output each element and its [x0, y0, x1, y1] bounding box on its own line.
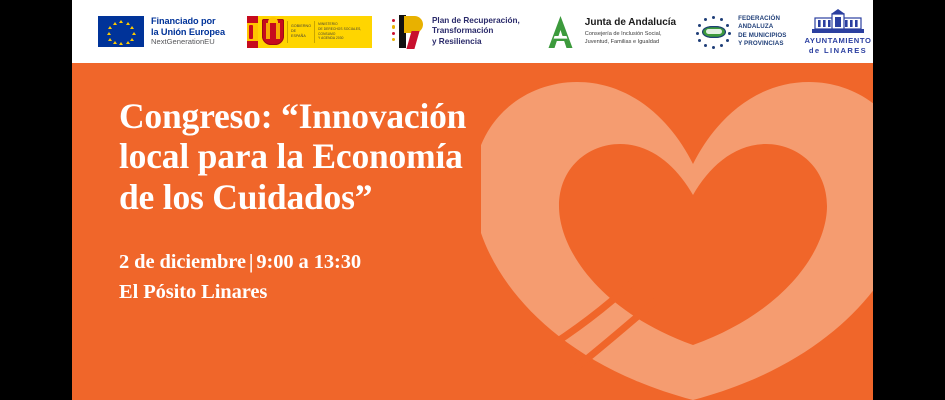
ministerio-label: MINISTERIO DE DERECHOS SOCIALES, CONSUMO…: [315, 22, 372, 41]
famp-label: FEDERACIÓN ANDALUZA DE MUNICIPIOS Y PROV…: [738, 15, 786, 48]
poster-copy-block: Congreso: “Innovación local para la Econ…: [119, 96, 549, 308]
prtr-monogram-icon: [392, 15, 426, 48]
event-time: 9:00 a 13:30: [256, 251, 361, 273]
spain-coat-of-arms-icon: [262, 19, 284, 45]
poster-canvas: Financiado por la Unión Europea NextGene…: [72, 0, 873, 400]
eu-logo-line1: Financiado por: [151, 16, 225, 26]
gobierno-label: GOBIERNO DE ESPAÑA: [288, 24, 314, 40]
detail-separator: |: [246, 251, 256, 273]
logo-divider: [287, 21, 288, 43]
eu-flag-icon: [98, 16, 144, 47]
gobierno-de-espana-logo: GOBIERNO DE ESPAÑA MINISTERIO DE DERECHO…: [247, 16, 372, 48]
linares-line1: AYUNTAMIENTO: [805, 36, 872, 45]
spain-flag-bar-icon: [247, 16, 258, 48]
event-date: 2 de diciembre: [119, 251, 246, 273]
poster-root: Financiado por la Unión Europea NextGene…: [0, 0, 945, 400]
junta-title: Junta de Andalucía: [585, 17, 676, 29]
page-title: Congreso: “Innovación local para la Econ…: [119, 96, 549, 217]
famp-emblem-icon: [696, 15, 732, 49]
prtr-label: Plan de Recuperación, Transformación y R…: [432, 16, 520, 47]
plan-de-recuperacion-logo: Plan de Recuperación, Transformación y R…: [392, 15, 520, 48]
eu-logo-line3: NextGenerationEU: [151, 38, 225, 47]
eu-logo-line2: la Unión Europea: [151, 27, 225, 37]
linares-line2: de LINARES: [809, 46, 867, 55]
junta-andalucia-a-icon: [544, 15, 578, 49]
institutional-logo-strip: Financiado por la Unión Europea NextGene…: [72, 0, 873, 63]
logo-divider: [314, 21, 315, 43]
junta-subtitle: Consejería de Inclusión Social, Juventud…: [585, 31, 676, 46]
european-union-funding-logo: Financiado por la Unión Europea NextGene…: [98, 16, 225, 47]
junta-de-andalucia-logo: Junta de Andalucía Consejería de Inclusi…: [544, 15, 676, 49]
ayuntamiento-de-linares-logo: AYUNTAMIENTO de LINARES: [805, 9, 872, 55]
linares-town-hall-building-icon: [809, 9, 867, 35]
federacion-andaluza-municipios-provincias-logo: FEDERACIÓN ANDALUZA DE MUNICIPIOS Y PROV…: [696, 15, 786, 49]
event-venue: El Pósito Linares: [119, 277, 549, 307]
event-details: 2 de diciembre|9:00 a 13:30 El Pósito Li…: [119, 247, 549, 308]
